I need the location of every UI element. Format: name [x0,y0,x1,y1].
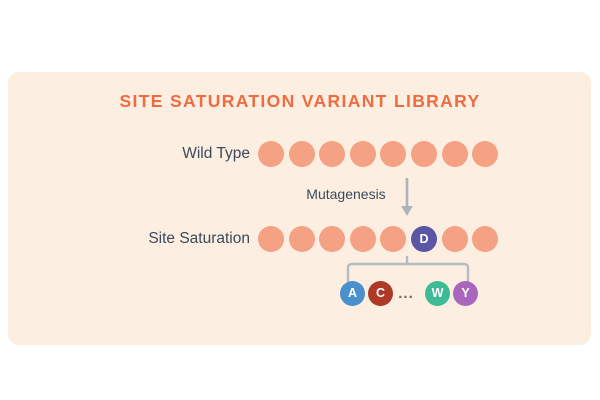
wild-type-residue [319,141,345,167]
variant-bracket-connector [344,256,472,282]
variant-list: ... ACWY [340,281,480,307]
site-saturation-residue [258,226,284,252]
wild-type-residue [289,141,315,167]
mutagenesis-arrow-icon [398,178,416,218]
variant-residue-a: A [340,281,365,306]
variant-residue-y: Y [453,281,478,306]
figure-title: SITE SATURATION VARIANT LIBRARY [0,91,600,112]
variant-residue-w: W [425,281,450,306]
wild-type-label: Wild Type [60,144,250,164]
site-saturation-residue [319,226,345,252]
site-saturation-residue [442,226,468,252]
site-saturation-mutated-residue: D [411,226,437,252]
site-saturation-label: Site Saturation [40,229,250,249]
wild-type-residue [472,141,498,167]
site-saturation-residue [289,226,315,252]
wild-type-residue [258,141,284,167]
mutagenesis-label: Mutagenesis [296,185,396,203]
figure-panel [8,72,591,345]
variant-residue-c: C [368,281,393,306]
wild-type-residue [411,141,437,167]
variant-ellipsis: ... [393,286,419,302]
figure-canvas: SITE SATURATION VARIANT LIBRARY Wild Typ… [0,0,600,400]
site-saturation-residue [350,226,376,252]
wild-type-residue [350,141,376,167]
wild-type-residue [442,141,468,167]
site-saturation-residue [472,226,498,252]
